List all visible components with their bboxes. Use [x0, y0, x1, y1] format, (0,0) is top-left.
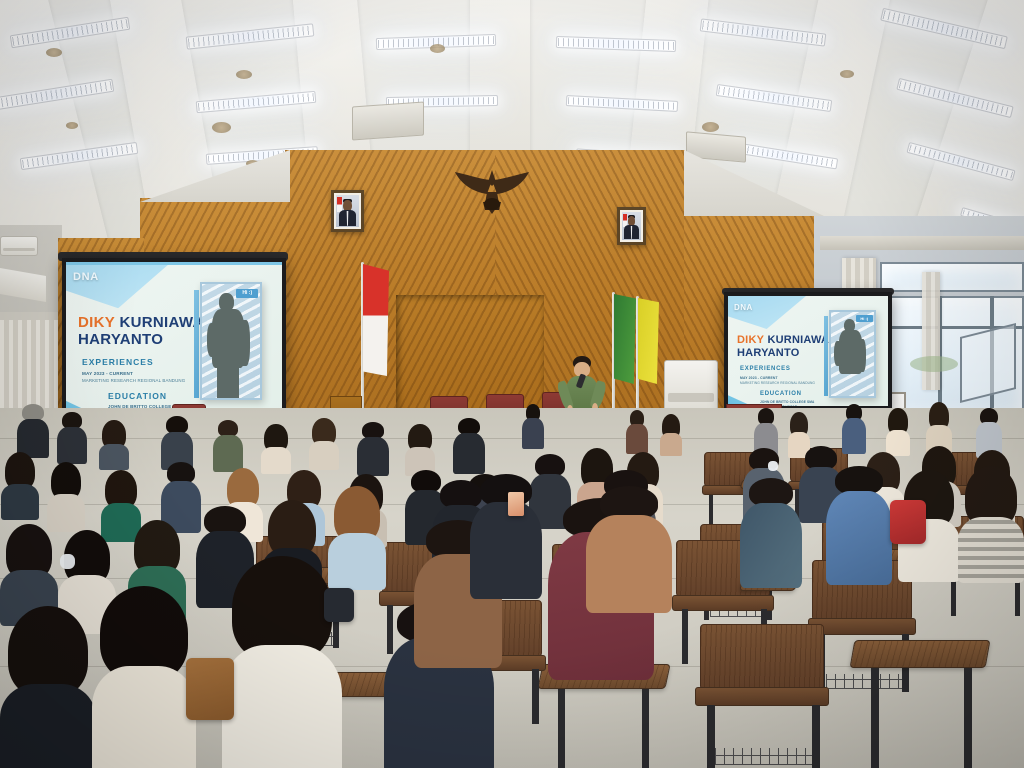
audience-member [212, 420, 244, 470]
slide-photo-accent-strip [194, 290, 199, 398]
slide-right-photo-accent-strip [824, 316, 828, 396]
audience-member [404, 424, 436, 474]
audience-member-front [470, 474, 542, 592]
backpack-red [890, 500, 926, 544]
ceiling-ac-duct [352, 101, 424, 140]
audience-member [624, 410, 650, 452]
slide-right-exp-detail: MARKETING RESEARCH REGIONAL BANDUNG [740, 381, 815, 385]
dna-logo-right: DNA [734, 303, 753, 312]
audience-member-front [0, 606, 96, 768]
audience-member [974, 408, 1004, 456]
slide-right-name-line2: HARYANTO [737, 347, 799, 359]
flag-green [614, 294, 636, 384]
window-awning-pane [960, 323, 1016, 403]
president-portrait [331, 190, 364, 232]
window-curtain-mid [922, 272, 940, 390]
slide-right-name-line1: DIKY KURNIAWAN [737, 334, 837, 346]
presentation-slide-left: DNA DIKY KURNIAWAN HARYANTO EXPERIENCES … [66, 262, 282, 416]
classroom-chair-front[interactable] [852, 640, 988, 768]
bag-brown [186, 658, 234, 720]
slide-section-education: EDUCATION [108, 391, 167, 401]
auditorium-photo: DNA DIKY KURNIAWAN HARYANTO EXPERIENCES … [0, 0, 1024, 768]
projector-screen-right[interactable]: DNA DIKY KURNIAWAN HARYANTO EXPERIENCES … [724, 292, 892, 410]
slide-exp-detail: MARKETING RESEARCH REGIONAL BANDUNG [82, 378, 185, 383]
slide-right-name-first: DIKY [737, 334, 764, 346]
slide-photo-badge: Hi :) [236, 289, 258, 298]
vice-president-portrait [617, 207, 646, 245]
audience-member [308, 418, 340, 468]
audience-member [658, 414, 684, 454]
flag-indonesia [363, 264, 389, 376]
audience-member-front [222, 556, 342, 768]
audience-member [958, 466, 1024, 576]
slide-right-photo-badge: Hi :) [856, 315, 873, 322]
audience-member [884, 408, 912, 454]
projector-screen-left[interactable]: DNA DIKY KURNIAWAN HARYANTO EXPERIENCES … [62, 258, 286, 420]
curtain-rail [820, 236, 1024, 250]
audience-member-front [92, 586, 196, 768]
slide-name-first: DIKY [78, 314, 115, 331]
slide-right-photo-card: Hi :) [829, 310, 876, 398]
audience-member [98, 420, 130, 468]
slide-right-section-experiences: EXPERIENCES [740, 366, 791, 372]
audience-member [260, 424, 292, 472]
flag-yellow [638, 298, 659, 384]
audience-member [924, 402, 954, 452]
audience-member [740, 478, 802, 582]
audience-member [16, 404, 50, 456]
classroom-chair-front[interactable] [700, 624, 824, 768]
audience-member [356, 422, 390, 474]
slide-name-line2: HARYANTO [78, 331, 163, 348]
audience-member [452, 418, 486, 472]
face-mask [768, 461, 779, 471]
audience-member [520, 404, 546, 448]
audience-member [160, 416, 194, 468]
dna-logo: DNA [73, 271, 99, 283]
wall-ac-unit-left [0, 236, 38, 256]
curtain-rail-left [0, 312, 58, 320]
audience-member-front [586, 486, 672, 606]
wall-ac-unit-stage [664, 360, 718, 414]
presentation-slide-right: DNA DIKY KURNIAWAN HARYANTO EXPERIENCES … [728, 296, 888, 406]
notebook-card [508, 492, 524, 516]
window-glass-upper [880, 262, 1024, 292]
audience-member [46, 462, 86, 528]
slide-exp-dates: MAY 2023 - CURRENT [82, 371, 133, 376]
audience-member [826, 466, 892, 578]
audience-member [840, 404, 868, 452]
bag-dark [324, 588, 354, 622]
slide-right-exp-dates: MAY 2023 - CURRENT [740, 376, 778, 380]
garuda-emblem-icon [449, 162, 535, 224]
slide-right-section-education: EDUCATION [760, 391, 802, 397]
audience-member [56, 412, 88, 462]
slide-photo-card: Hi :) [200, 282, 262, 400]
slide-section-experiences: EXPERIENCES [82, 357, 154, 367]
face-mask [60, 554, 75, 570]
audience-member [0, 452, 40, 516]
outside-foliage [910, 356, 958, 372]
